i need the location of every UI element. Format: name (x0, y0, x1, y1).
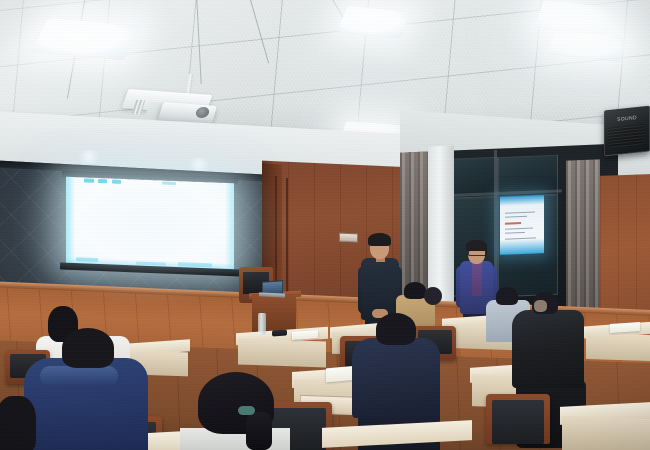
screen-artifact (84, 178, 94, 182)
hair-tie-icon (238, 406, 255, 415)
attendee-light-gray-hair (496, 287, 518, 305)
attendee-navy-suit-torso (352, 338, 440, 418)
attendee-black-hoodie-torso (512, 310, 584, 388)
attendee-tan-jacket-hair (404, 282, 426, 299)
screen-artifact (98, 179, 107, 183)
recessed-downlight (76, 150, 102, 164)
attendee-black-hoodie-nape (534, 300, 547, 312)
window-reflection-monitor (500, 195, 544, 255)
presenter-primary-hair (368, 233, 391, 246)
desk-front (238, 338, 326, 367)
photo-scene: SOUND (0, 0, 650, 450)
desk-front (586, 333, 650, 361)
attendee-back-row-head (424, 287, 442, 305)
water-bottle (258, 313, 266, 335)
screen-artifact (112, 180, 121, 184)
desk-front (562, 416, 650, 450)
attendee-navy-jacket-highlight (40, 366, 118, 386)
wall-plaque (339, 233, 358, 243)
attendee-ponytail-tail (246, 412, 272, 450)
mobile-phone (272, 329, 287, 336)
eyeglasses-icon (468, 250, 487, 256)
attendee-navy-suit-hair (376, 313, 416, 345)
attendee-edge-left-head (0, 396, 36, 450)
screen-artifact (76, 257, 98, 262)
screen-artifact (162, 181, 176, 185)
attendee-navy-jacket-hair (62, 328, 114, 368)
speaker-grill (608, 124, 644, 148)
projection-screen (66, 177, 234, 271)
chair-seatback-pad (492, 400, 544, 444)
presenter-secondary-shirt (472, 262, 482, 296)
